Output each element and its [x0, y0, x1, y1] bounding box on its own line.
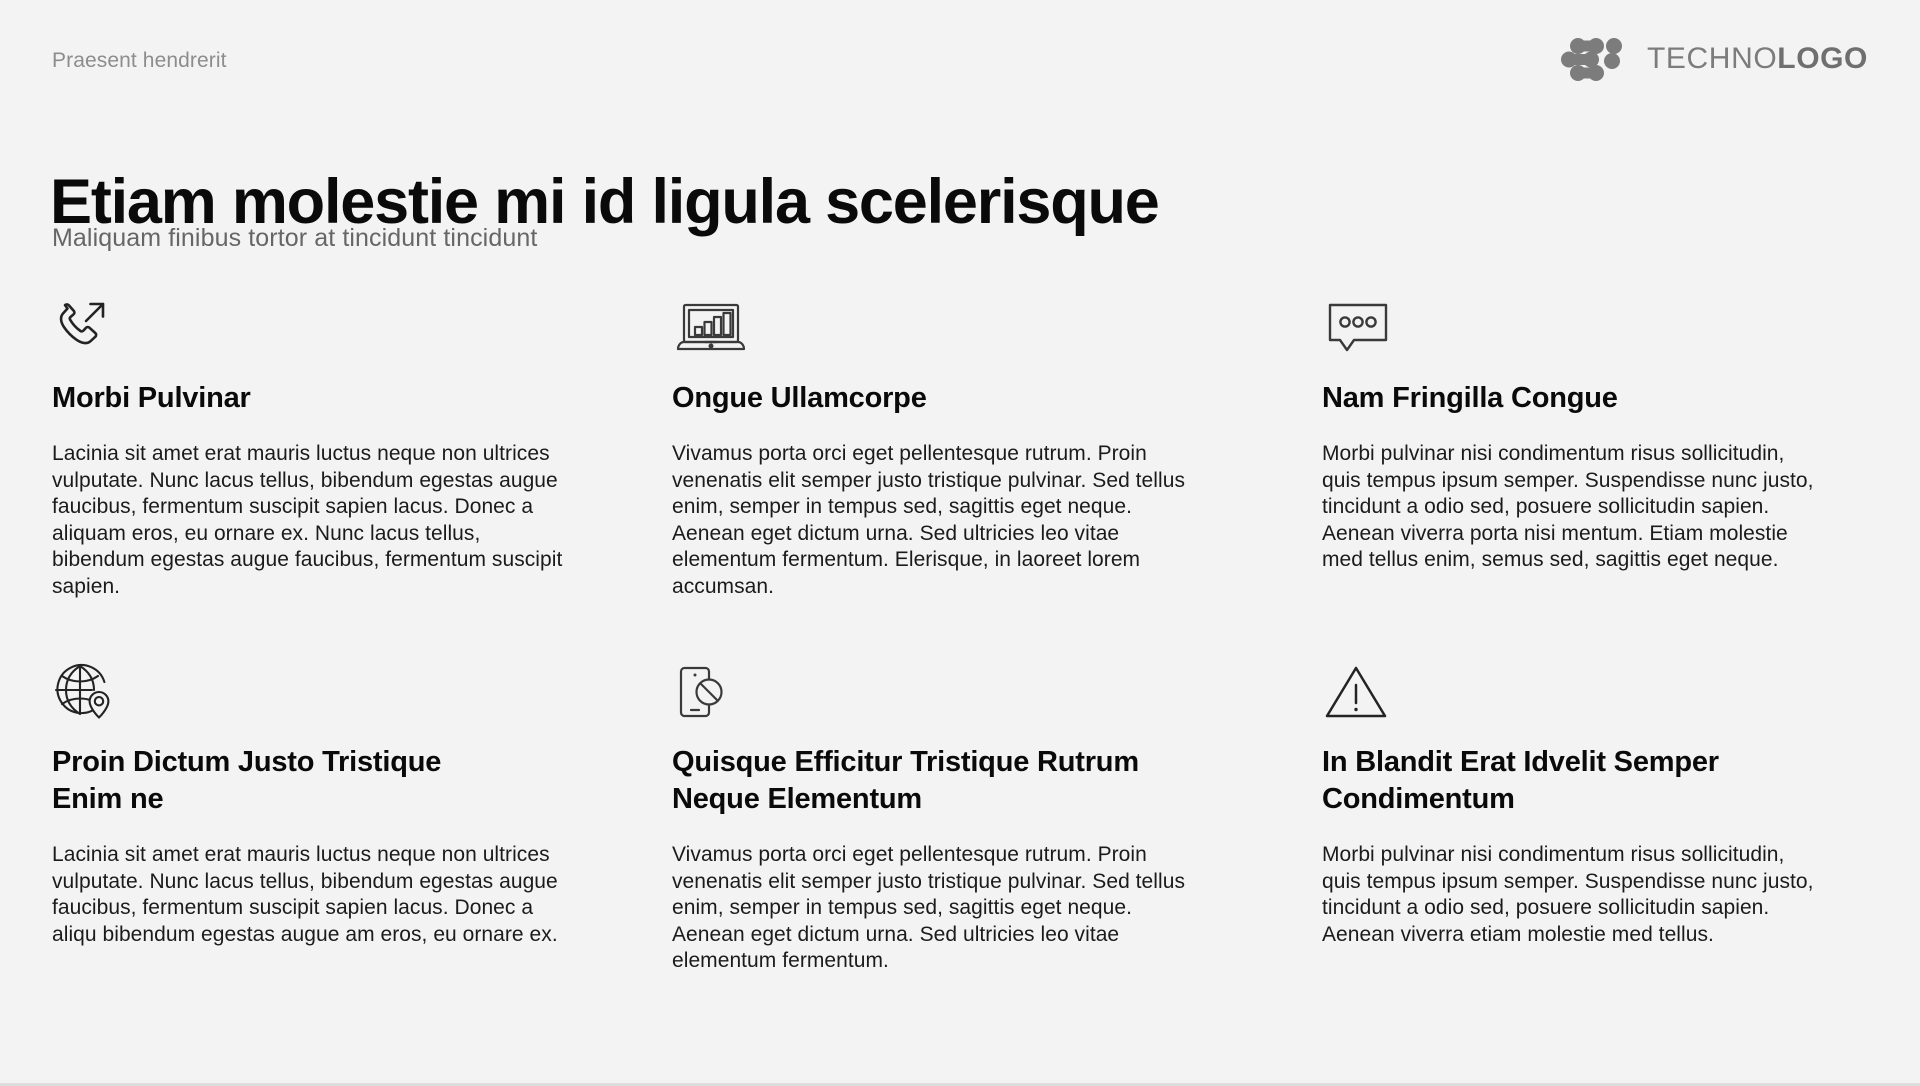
feature-body: Morbi pulvinar nisi condimentum risus so…: [1322, 842, 1822, 948]
page-subtitle: Maliquam finibus tortor at tincidunt tin…: [52, 222, 537, 254]
feature-title: In Blandit Erat Idvelit Semper Condiment…: [1322, 744, 1792, 818]
feature-cell: Quisque Efficitur Tristique Rutrum Neque…: [672, 656, 1322, 975]
mobile-phone-blocked-icon: [672, 656, 1322, 722]
feature-title: Nam Fringilla Congue: [1322, 380, 1792, 417]
feature-title: Morbi Pulvinar: [52, 380, 472, 417]
slide-root: Praesent hendrerit TECHNOLOGO Etiam mole…: [0, 0, 1920, 1086]
brand-wordmark: TECHNOLOGO: [1647, 44, 1868, 74]
feature-grid: Morbi Pulvinar Lacinia sit amet erat mau…: [52, 292, 1872, 975]
feature-cell: In Blandit Erat Idvelit Semper Condiment…: [1322, 656, 1872, 975]
brand-wordmark-light: TECHNO: [1647, 42, 1777, 75]
feature-title: Proin Dictum Justo Tristique Enim ne: [52, 744, 472, 818]
feature-title: Ongue Ullamcorpe: [672, 380, 1142, 417]
feature-body: Vivamus porta orci eget pellentesque rut…: [672, 441, 1202, 600]
chat-bubble-dots-icon: [1322, 292, 1872, 358]
brand-logo: TECHNOLOGO: [1557, 36, 1868, 82]
feature-body: Morbi pulvinar nisi condimentum risus so…: [1322, 441, 1822, 574]
feature-title: Quisque Efficitur Tristique Rutrum Neque…: [672, 744, 1142, 818]
feature-body: Vivamus porta orci eget pellentesque rut…: [672, 842, 1202, 975]
technologo-nodes-mark: [1557, 36, 1631, 82]
feature-cell: Ongue Ullamcorpe Vivamus porta orci eget…: [672, 292, 1322, 600]
feature-cell: Morbi Pulvinar Lacinia sit amet erat mau…: [52, 292, 672, 600]
eyebrow-label: Praesent hendrerit: [52, 48, 227, 74]
feature-body: Lacinia sit amet erat mauris luctus nequ…: [52, 441, 572, 600]
warning-triangle-icon: [1322, 656, 1872, 722]
feature-cell: Proin Dictum Justo Tristique Enim ne Lac…: [52, 656, 672, 975]
laptop-bar-chart-icon: [672, 292, 1322, 358]
brand-wordmark-bold: LOGO: [1777, 42, 1868, 75]
feature-body: Lacinia sit amet erat mauris luctus nequ…: [52, 842, 572, 948]
globe-location-pin-icon: [52, 656, 672, 722]
feature-cell: Nam Fringilla Congue Morbi pulvinar nisi…: [1322, 292, 1872, 600]
phone-outgoing-call-icon: [52, 292, 672, 358]
